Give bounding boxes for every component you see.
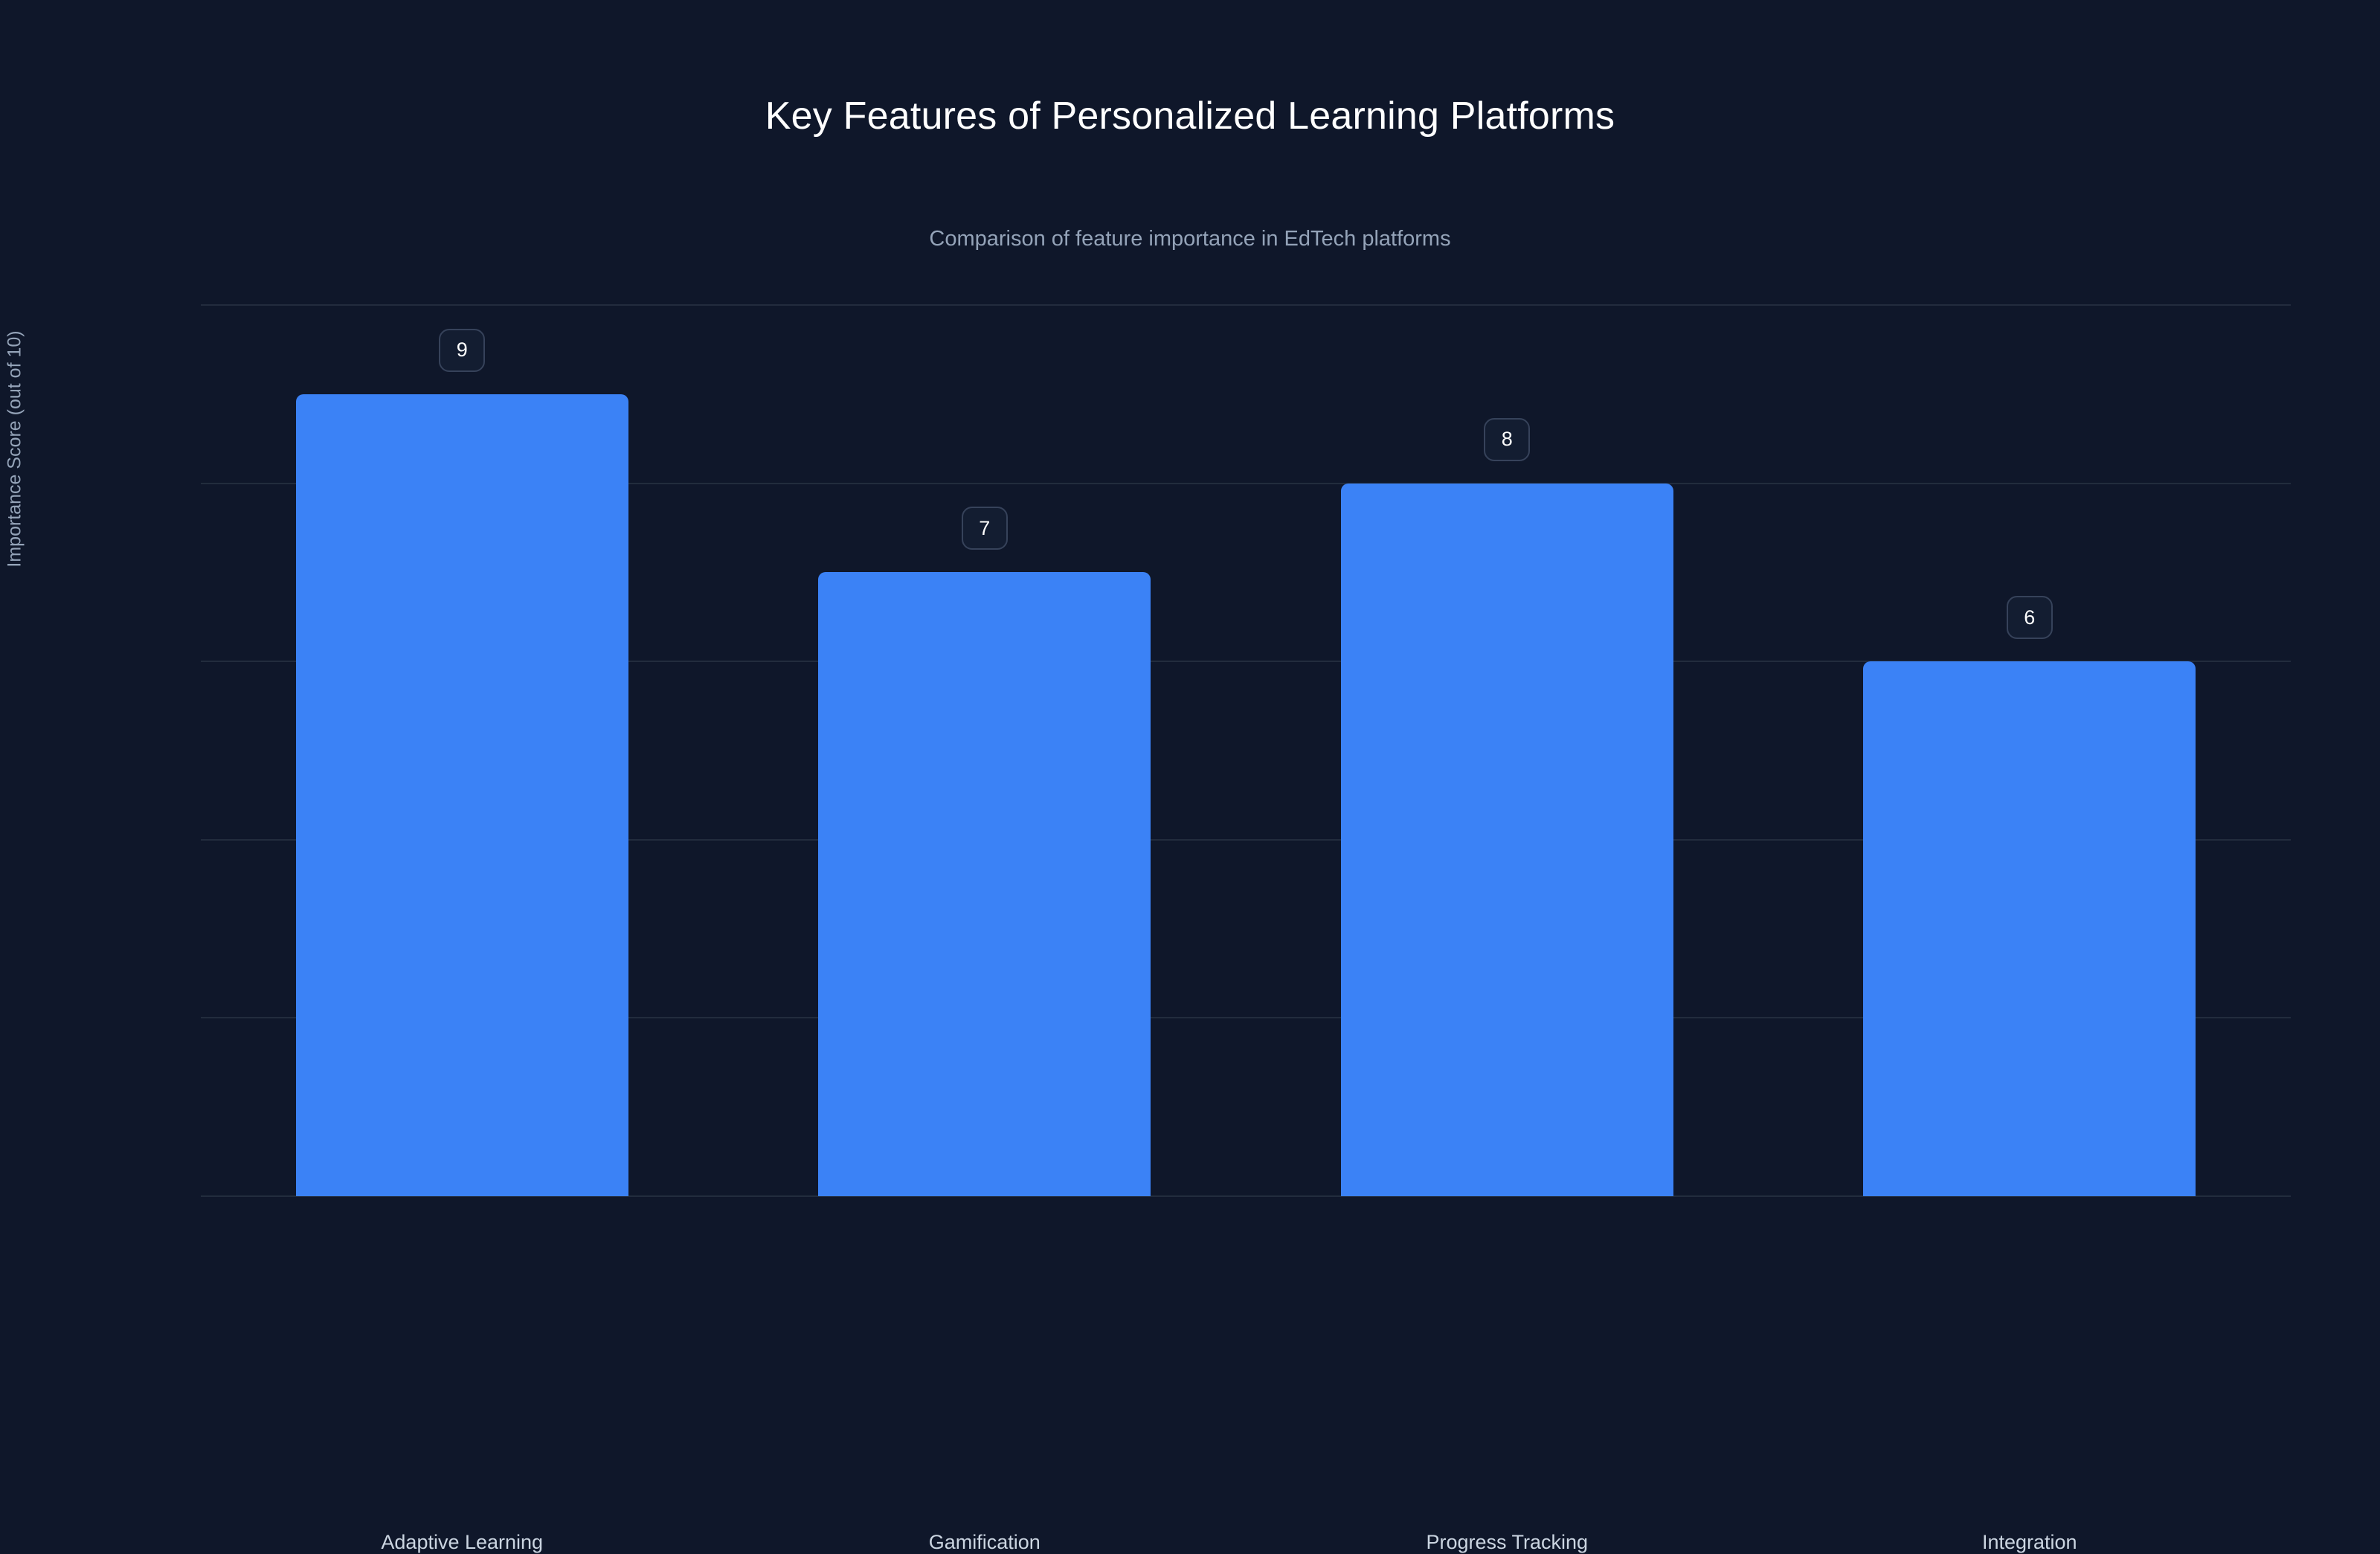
gridline-10 [201, 304, 2291, 306]
chart-subtitle: Comparison of feature importance in EdTe… [0, 228, 2380, 251]
x-tick-label-3: Integration [1769, 1531, 2290, 1554]
chart-title: Key Features of Personalized Learning Pl… [0, 95, 2380, 138]
value-badge-0: 9 [439, 329, 485, 372]
x-tick-label-2: Progress Tracking [1247, 1531, 1767, 1554]
bar-3[interactable] [1863, 661, 2196, 1196]
bar-2[interactable] [1341, 484, 1673, 1196]
plot-area: 0246810 9786 Adaptive LearningGamificati… [201, 305, 2291, 1196]
value-badge-2: 8 [1484, 418, 1530, 461]
bar-0[interactable] [296, 394, 628, 1196]
x-tick-label-0: Adaptive Learning [202, 1531, 722, 1554]
x-tick-label-1: Gamification [724, 1531, 1245, 1554]
bar-1[interactable] [818, 572, 1151, 1196]
value-badge-3: 6 [2007, 596, 2053, 639]
bar-chart-figure: Key Features of Personalized Learning Pl… [0, 0, 2380, 1339]
y-axis-title: Importance Score (out of 10) [4, 0, 26, 1268]
value-badge-1: 7 [962, 507, 1008, 550]
